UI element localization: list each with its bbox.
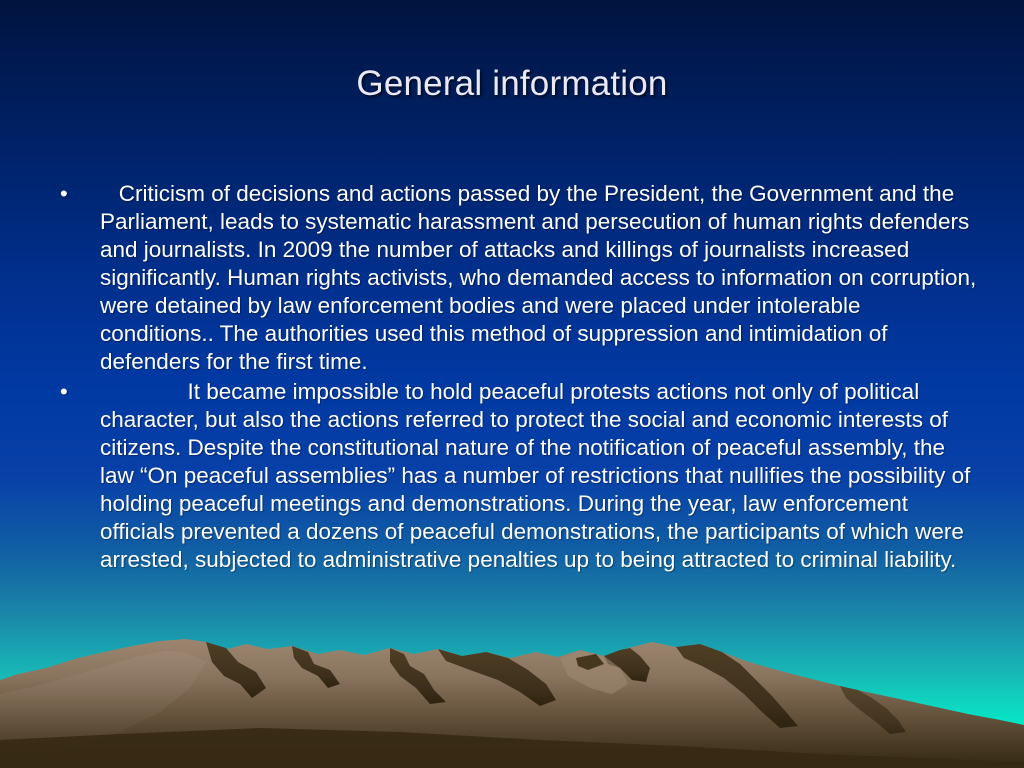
bullet-icon: • bbox=[50, 180, 100, 208]
mountain-shadow-3 bbox=[390, 648, 446, 704]
bullet-paragraph-2: It became impossible to hold peaceful pr… bbox=[100, 378, 980, 574]
mountain-ridge-main bbox=[0, 639, 1024, 768]
mountain-shadow-1 bbox=[206, 642, 266, 698]
mountain-shadow-6 bbox=[676, 644, 798, 728]
lead-indent-2 bbox=[100, 378, 188, 406]
slide-body: • Criticism of decisions and actions pas… bbox=[50, 180, 980, 576]
mountain-peak-right bbox=[560, 650, 628, 694]
mountain-shadow-4 bbox=[438, 649, 556, 706]
presentation-slide: General information • Criticism of decis… bbox=[0, 0, 1024, 768]
list-item: • It became impossible to hold peaceful … bbox=[50, 378, 980, 574]
bullet-icon: • bbox=[50, 378, 100, 406]
mountain-shadow-7 bbox=[840, 686, 906, 734]
mountain-shadow-5 bbox=[604, 648, 650, 682]
bullet-paragraph-1: Criticism of decisions and actions passe… bbox=[100, 180, 980, 376]
mountain-ridge-left bbox=[0, 651, 206, 768]
mountain-shadow-2 bbox=[292, 646, 340, 688]
page-title: General information bbox=[0, 62, 1024, 106]
lead-indent-1 bbox=[100, 180, 119, 208]
mountain-landscape-graphic bbox=[0, 628, 1024, 768]
bullet-paragraph-1-text: Criticism of decisions and actions passe… bbox=[100, 181, 983, 374]
bullet-paragraph-2-text: It became impossible to hold peaceful pr… bbox=[100, 379, 977, 572]
mountain-notch-right bbox=[576, 654, 604, 670]
mountain-base-band bbox=[0, 728, 1024, 768]
list-item: • Criticism of decisions and actions pas… bbox=[50, 180, 980, 376]
